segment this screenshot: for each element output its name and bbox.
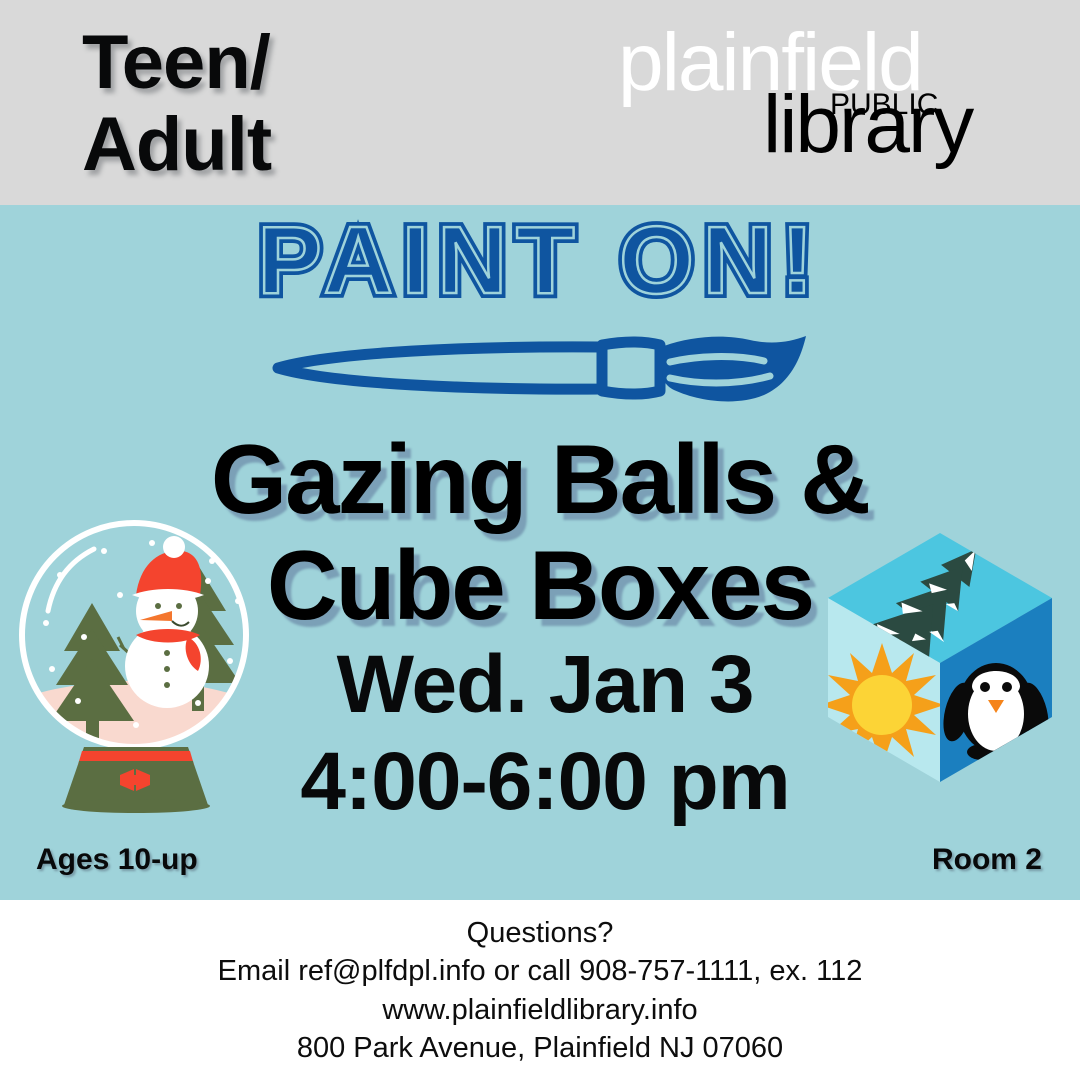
room-label: Room 2 (932, 843, 1042, 877)
cube-box-icon (820, 520, 1058, 790)
main-band: PAINT ON! PAINT ON! Gazing Balls & Cube … (0, 205, 1080, 900)
footer-line-address: 800 Park Avenue, Plainfield NJ 07060 (0, 1029, 1080, 1067)
footer-band: Questions? Email ref@plfdpl.info or call… (0, 900, 1080, 1080)
program-title: PAINT ON! (0, 213, 1080, 309)
contact-info: Questions? Email ref@plfdpl.info or call… (0, 914, 1080, 1067)
ages-label: Ages 10-up (36, 843, 198, 877)
snow-globe-icon (12, 503, 262, 821)
audience-label: Teen/ Adult (82, 22, 512, 186)
paintbrush-icon (272, 332, 817, 404)
header-band: Teen/ Adult plainfield library PUBLIC (0, 0, 1080, 205)
poster-canvas: Teen/ Adult plainfield library PUBLIC PA… (0, 0, 1080, 1080)
library-logo: plainfield library PUBLIC (600, 22, 1030, 182)
footer-line-email-phone: Email ref@plfdpl.info or call 908-757-11… (0, 952, 1080, 990)
footer-line-website: www.plainfieldlibrary.info (0, 991, 1080, 1029)
program-title-fill: PAINT ON! (258, 213, 823, 309)
logo-word-public: PUBLIC (830, 90, 938, 120)
footer-line-questions: Questions? (0, 914, 1080, 952)
